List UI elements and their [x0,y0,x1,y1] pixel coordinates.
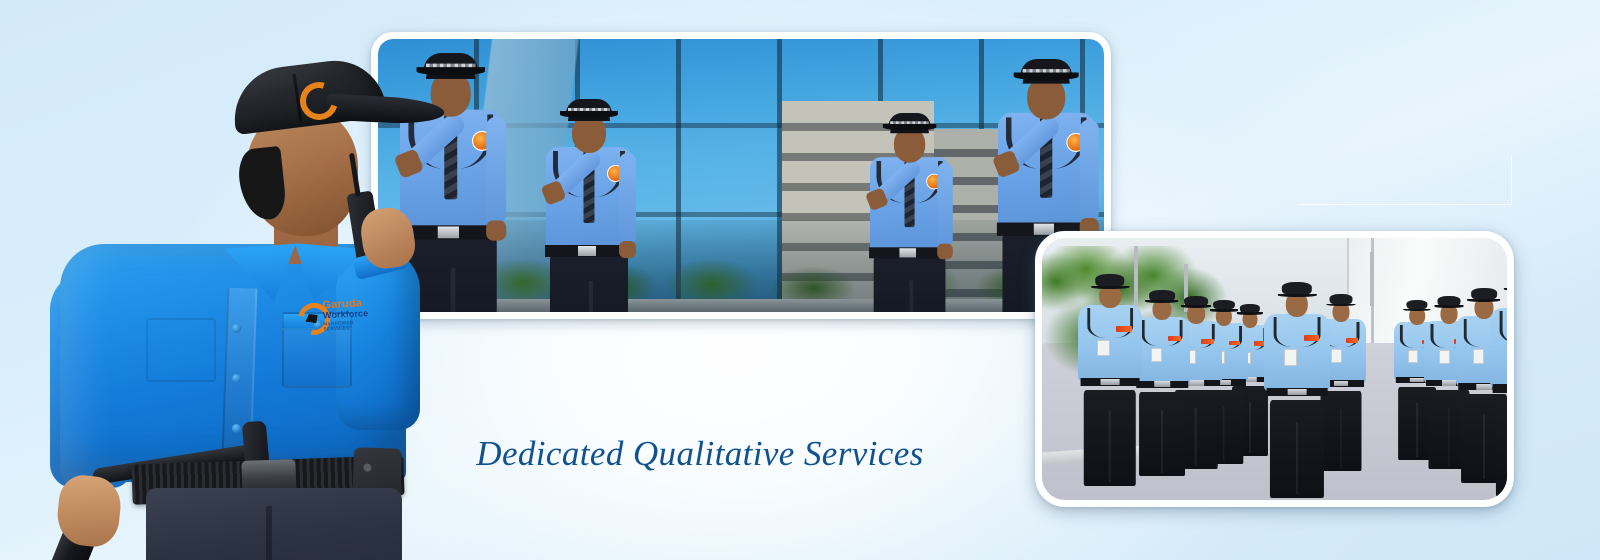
formation-guard [1134,290,1190,475]
id-card [1097,340,1110,356]
guard-cap [1095,274,1124,286]
guard-trousers [1270,400,1324,498]
formation-guard [1264,282,1330,496]
guard-trousers [1139,392,1185,476]
guard-trousers [874,257,946,312]
formation-guard [1490,276,1507,494]
guard-peaked-cap [1020,59,1072,78]
guard-arm-down [486,117,506,226]
guard-belt [1081,378,1140,386]
id-card [1331,349,1342,363]
shoulder-patch-icon [1229,341,1241,346]
guard-cap [1282,282,1312,294]
light-pole-3 [1370,252,1374,306]
guard-straps [1142,320,1183,346]
shirt-button-3 [232,424,241,433]
guard-belt [1267,388,1328,396]
photo-guards-in-formation-image [1042,238,1507,500]
foreground-security-guard: Garuda Workforce MANPOWER SERVICES [36,56,466,560]
id-card [1408,350,1418,363]
guard-head [1027,77,1065,120]
shirt-button-2 [232,374,241,383]
shoulder-patch-icon [1346,338,1358,343]
guard-hair [236,146,287,222]
id-card [1473,349,1485,364]
guard-straps [1087,308,1133,338]
chest-garuda-logo: Garuda Workforce MANPOWER SERVICES [297,298,364,331]
hero-banner: Garuda Workforce MANPOWER SERVICES Dedic… [0,0,1600,560]
guard-belt [1136,381,1188,388]
decorative-outline-rect [1297,155,1512,205]
photo-guards-saluting-image [378,39,1104,312]
guard-arm-down [1080,119,1099,222]
guard-arm-down [619,153,636,245]
saluting-guard [870,113,949,312]
guard-head [572,115,606,153]
shirt-pocket-left [146,318,216,382]
shirt-button-1 [232,324,241,333]
photo-guards-saluting[interactable] [371,32,1111,319]
saluting-guard [546,99,632,312]
guard-trousers [1496,397,1507,497]
guard-arm-down [937,163,953,248]
id-card [1284,349,1297,365]
guard-peaked-cap [888,113,930,129]
shoulder-patch-icon [1168,336,1181,341]
guard-cap [1330,294,1353,304]
shoulder-patch-icon [1304,335,1320,341]
id-card [1439,350,1450,363]
guard-trousers [550,255,628,312]
guard-peaked-cap [566,99,612,116]
photo-guards-in-formation[interactable] [1035,231,1514,507]
guard-cap [1149,290,1175,301]
shoulder-patch-icon [1201,339,1213,344]
shoulder-patch-icon [1116,326,1131,332]
tagline: Dedicated Qualitative Services [430,434,970,474]
formation-guard [1078,274,1142,484]
guard-head [894,128,925,163]
guard-belt [1493,384,1507,392]
guard-trousers [146,488,402,560]
guard-trousers [1084,390,1136,486]
guard-straps [1274,317,1321,348]
id-card [1151,348,1163,362]
logo-line-3: MANPOWER SERVICES [323,319,364,331]
